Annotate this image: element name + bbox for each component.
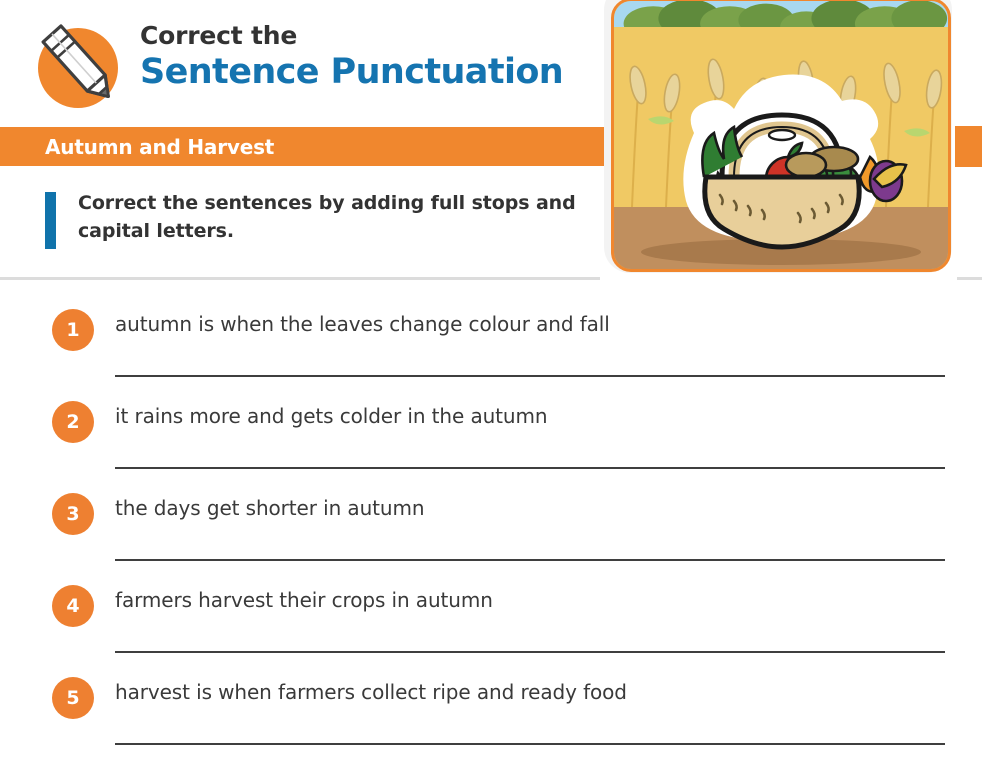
question-number: 3: [52, 493, 94, 535]
topic-banner-label: Autumn and Harvest: [45, 135, 274, 159]
answer-line[interactable]: [115, 559, 945, 561]
question-sentence: autumn is when the leaves change colour …: [115, 312, 610, 336]
question-number: 1: [52, 309, 94, 351]
answer-line[interactable]: [115, 375, 945, 377]
question-sentence: harvest is when farmers collect ripe and…: [115, 680, 627, 704]
question-list: 1 autumn is when the leaves change colou…: [0, 296, 982, 756]
section-divider-left: [0, 277, 600, 280]
topic-banner: Autumn and Harvest: [0, 127, 614, 166]
vegetable-basket-icon: [648, 73, 916, 251]
blue-accent-bar: [45, 192, 56, 249]
answer-line[interactable]: [115, 743, 945, 745]
harvest-illustration-card: [604, 0, 952, 273]
question-number: 4: [52, 585, 94, 627]
question-sentence: it rains more and gets colder in the aut…: [115, 404, 547, 428]
question-number: 5: [52, 677, 94, 719]
answer-line[interactable]: [115, 651, 945, 653]
page-title: Correct the Sentence Punctuation: [140, 22, 600, 92]
instruction-text: Correct the sentences by adding full sto…: [78, 190, 585, 245]
section-divider-right: [957, 277, 982, 280]
answer-line[interactable]: [115, 467, 945, 469]
pencil-icon: [24, 12, 136, 124]
instruction-row: Correct the sentences by adding full sto…: [45, 190, 585, 249]
question-item: 3 the days get shorter in autumn: [0, 480, 982, 572]
question-sentence: farmers harvest their crops in autumn: [115, 588, 493, 612]
question-item: 1 autumn is when the leaves change colou…: [0, 296, 982, 388]
title-line-2: Sentence Punctuation: [140, 52, 600, 92]
title-line-1: Correct the: [140, 22, 600, 50]
pencil-logo: [24, 12, 136, 124]
harvest-illustration: [611, 0, 951, 272]
question-number: 2: [52, 401, 94, 443]
right-edge-orange-tab: [955, 126, 982, 167]
question-sentence: the days get shorter in autumn: [115, 496, 424, 520]
question-item: 2 it rains more and gets colder in the a…: [0, 388, 982, 480]
question-item: 4 farmers harvest their crops in autumn: [0, 572, 982, 664]
question-item: 5 harvest is when farmers collect ripe a…: [0, 664, 982, 756]
